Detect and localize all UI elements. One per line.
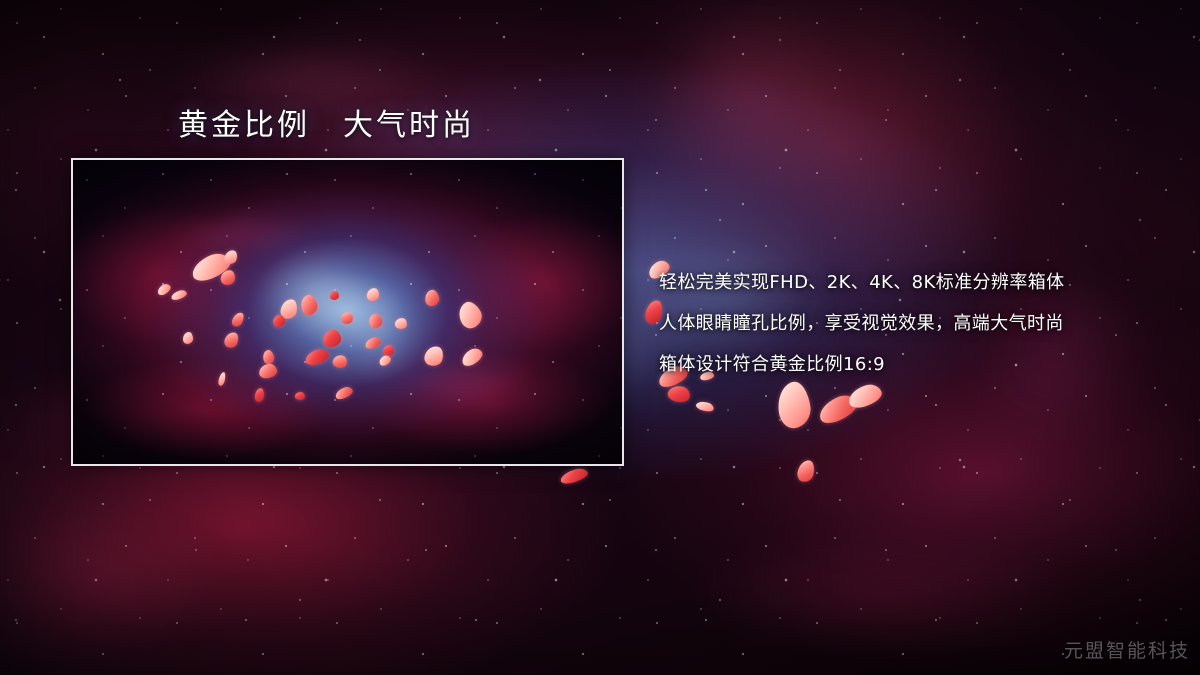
- image-frame-content: [73, 160, 622, 464]
- image-frame: [71, 158, 624, 466]
- page-title: 黄金比例 大气时尚: [178, 100, 475, 144]
- slide-canvas: 黄金比例 大气时尚 轻松完美实现FHD、2K、4K、8K标准分辨率箱体 人体眼睛…: [0, 0, 1200, 675]
- body-text-block: 轻松完美实现FHD、2K、4K、8K标准分辨率箱体 人体眼睛瞳孔比例，享受视觉效…: [659, 262, 1159, 385]
- watermark: 元盟智能科技: [1064, 636, 1190, 663]
- body-line-3: 箱体设计符合黄金比例16:9: [659, 344, 1159, 385]
- frame-vignette: [73, 160, 622, 464]
- body-line-1: 轻松完美实现FHD、2K、4K、8K标准分辨率箱体: [659, 262, 1159, 303]
- body-line-2: 人体眼睛瞳孔比例，享受视觉效果，高端大气时尚: [659, 303, 1159, 344]
